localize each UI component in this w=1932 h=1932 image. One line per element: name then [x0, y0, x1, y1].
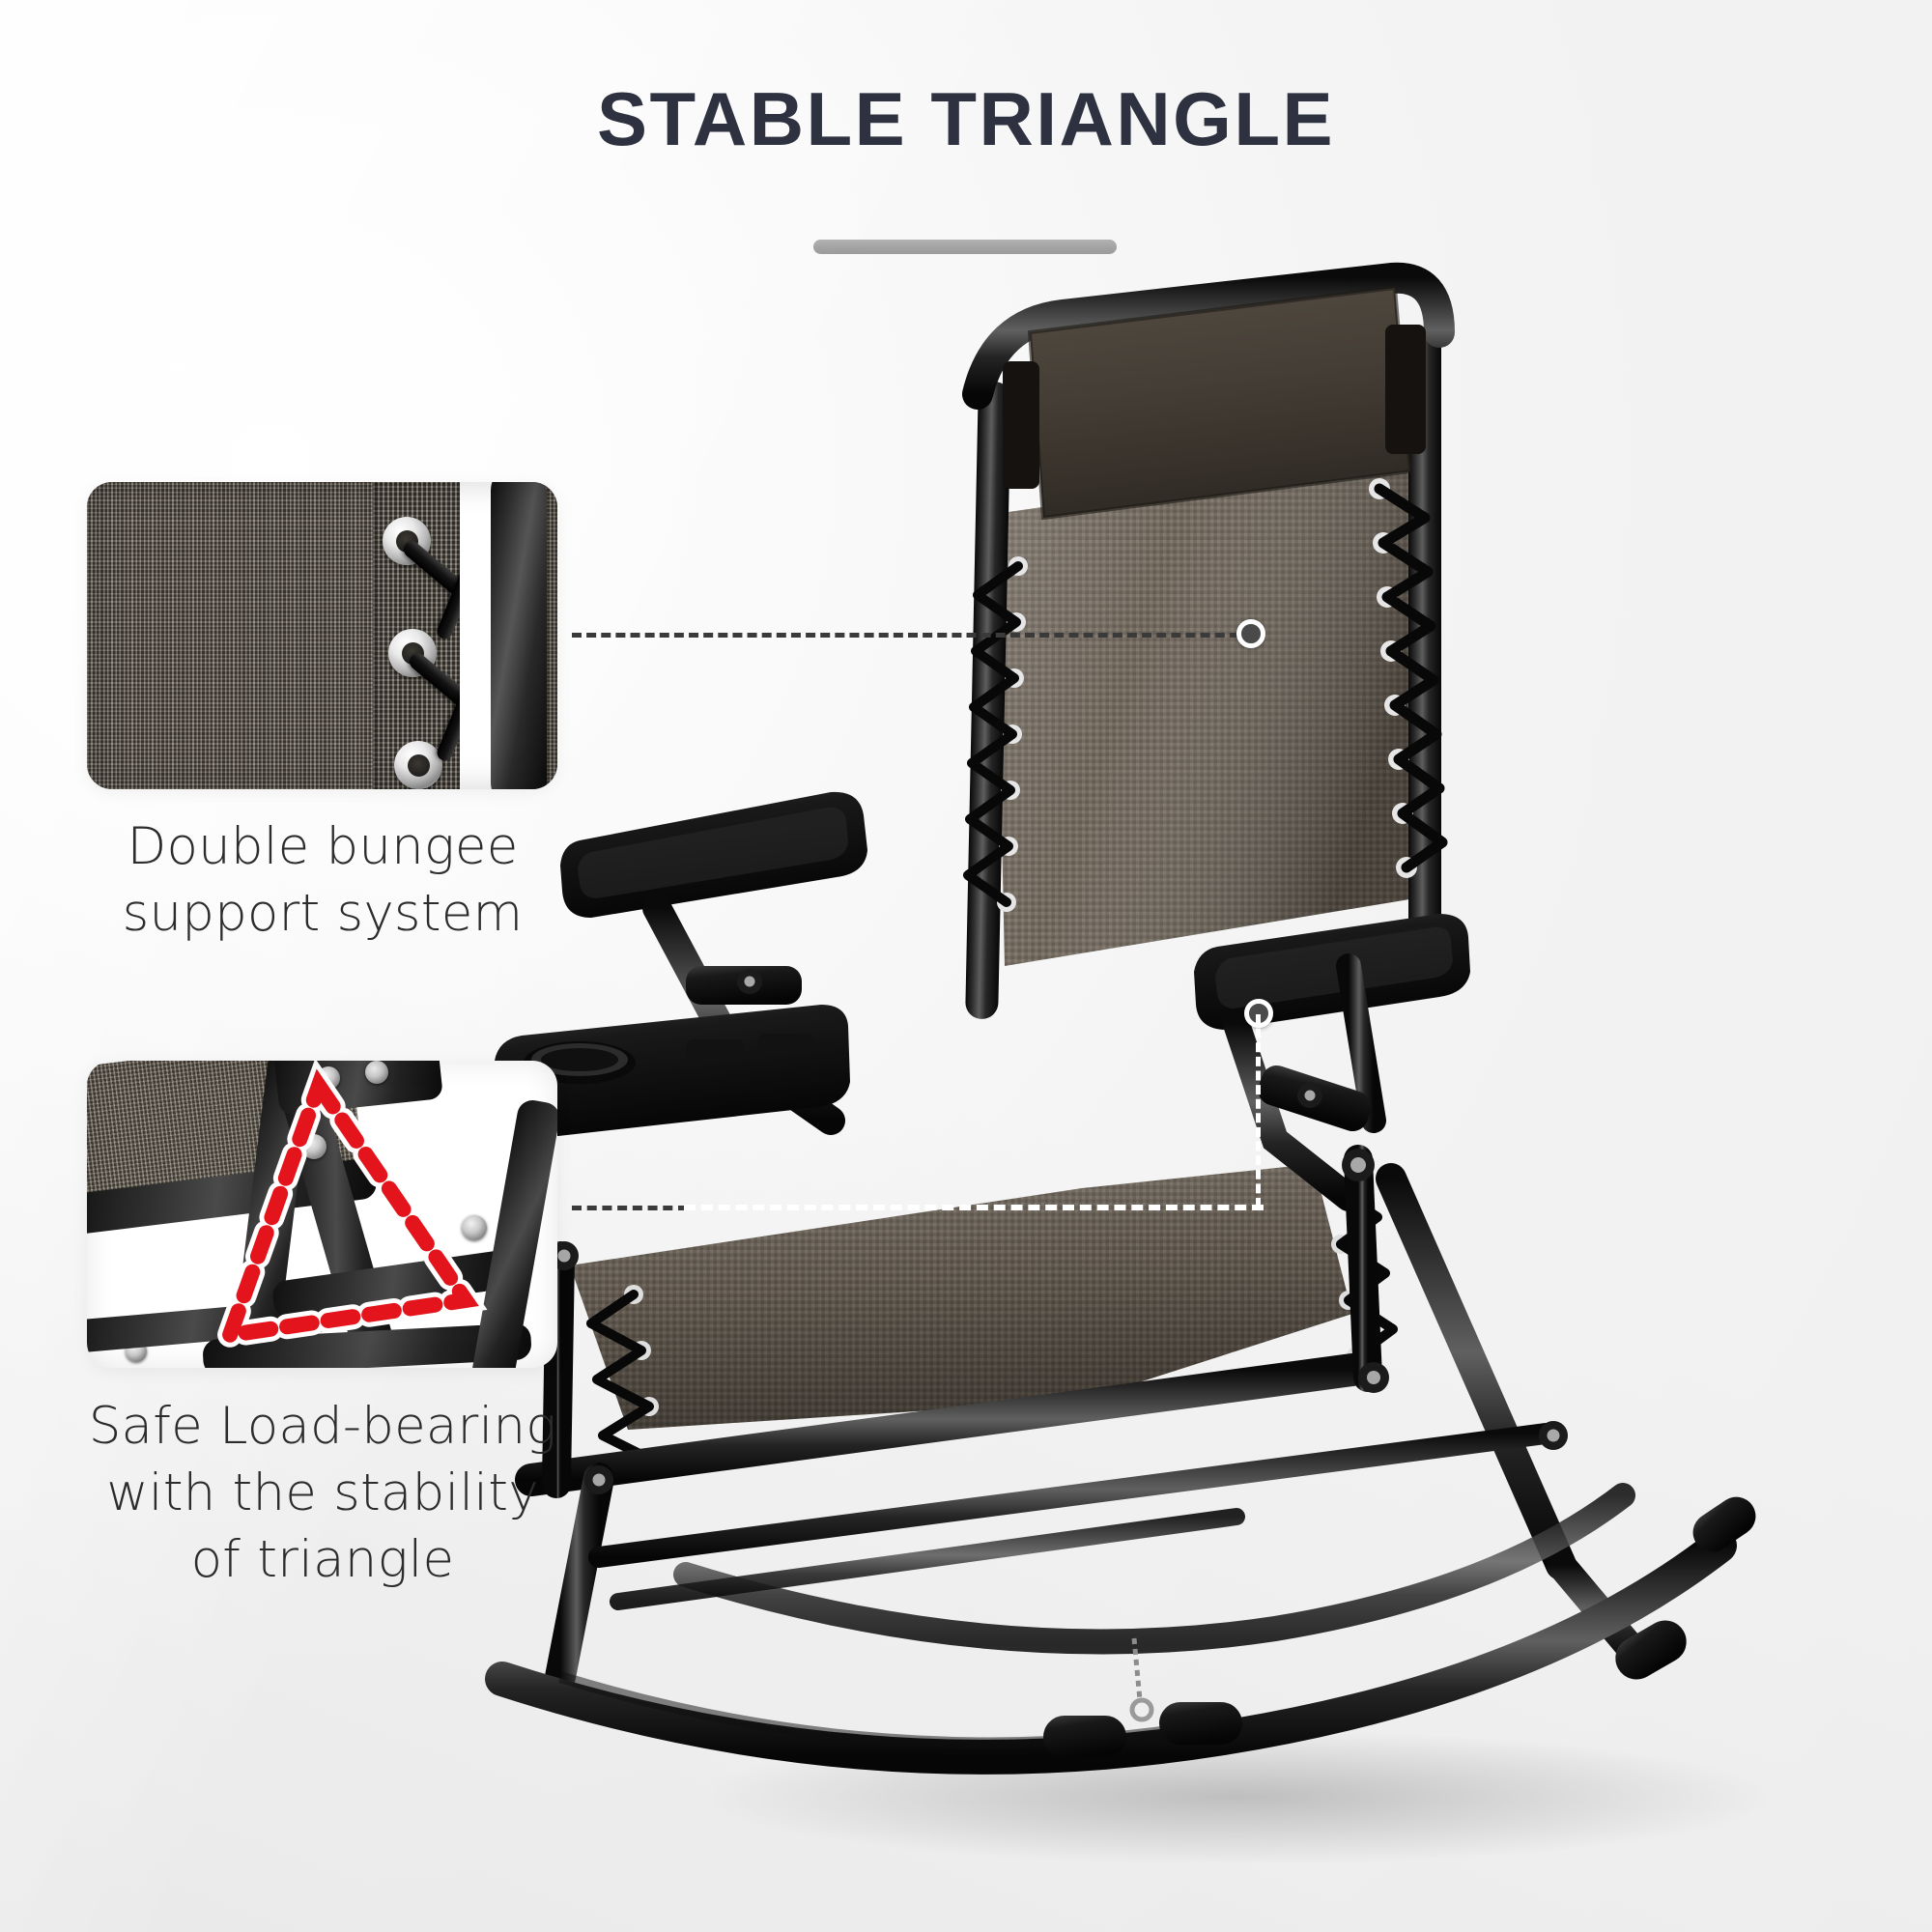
title-divider [813, 240, 1117, 254]
card-edge-highlight [87, 1061, 557, 1368]
leader-line-stable-triangle [572, 1206, 688, 1210]
caption-line: with the stability [43, 1461, 602, 1527]
leader-endpoint-dot [1236, 619, 1265, 648]
caption-line: Double bungee [58, 814, 587, 881]
product-photo-zero-gravity-rocking-chair [541, 290, 1913, 1893]
caption-line: of triangle [43, 1527, 602, 1594]
caption-line: Safe Load-bearing [43, 1394, 602, 1461]
callout-card-stable-triangle [87, 1061, 557, 1368]
leader-line-double-bungee [572, 633, 1254, 638]
header: STABLE TRIANGLE [0, 81, 1932, 156]
leader-line-stable-triangle-over-photo [684, 1205, 1264, 1210]
caption-double-bungee: Double bungee support system [58, 814, 587, 948]
card-edge-highlight [87, 482, 557, 789]
infographic-canvas: STABLE TRIANGLE [0, 0, 1932, 1932]
leader-vertical-connector [1256, 1014, 1261, 1207]
page-title: STABLE TRIANGLE [0, 81, 1932, 156]
caption-stable-triangle: Safe Load-bearing with the stability of … [43, 1394, 602, 1594]
callout-card-double-bungee [87, 482, 557, 789]
caption-line: support system [58, 881, 587, 948]
